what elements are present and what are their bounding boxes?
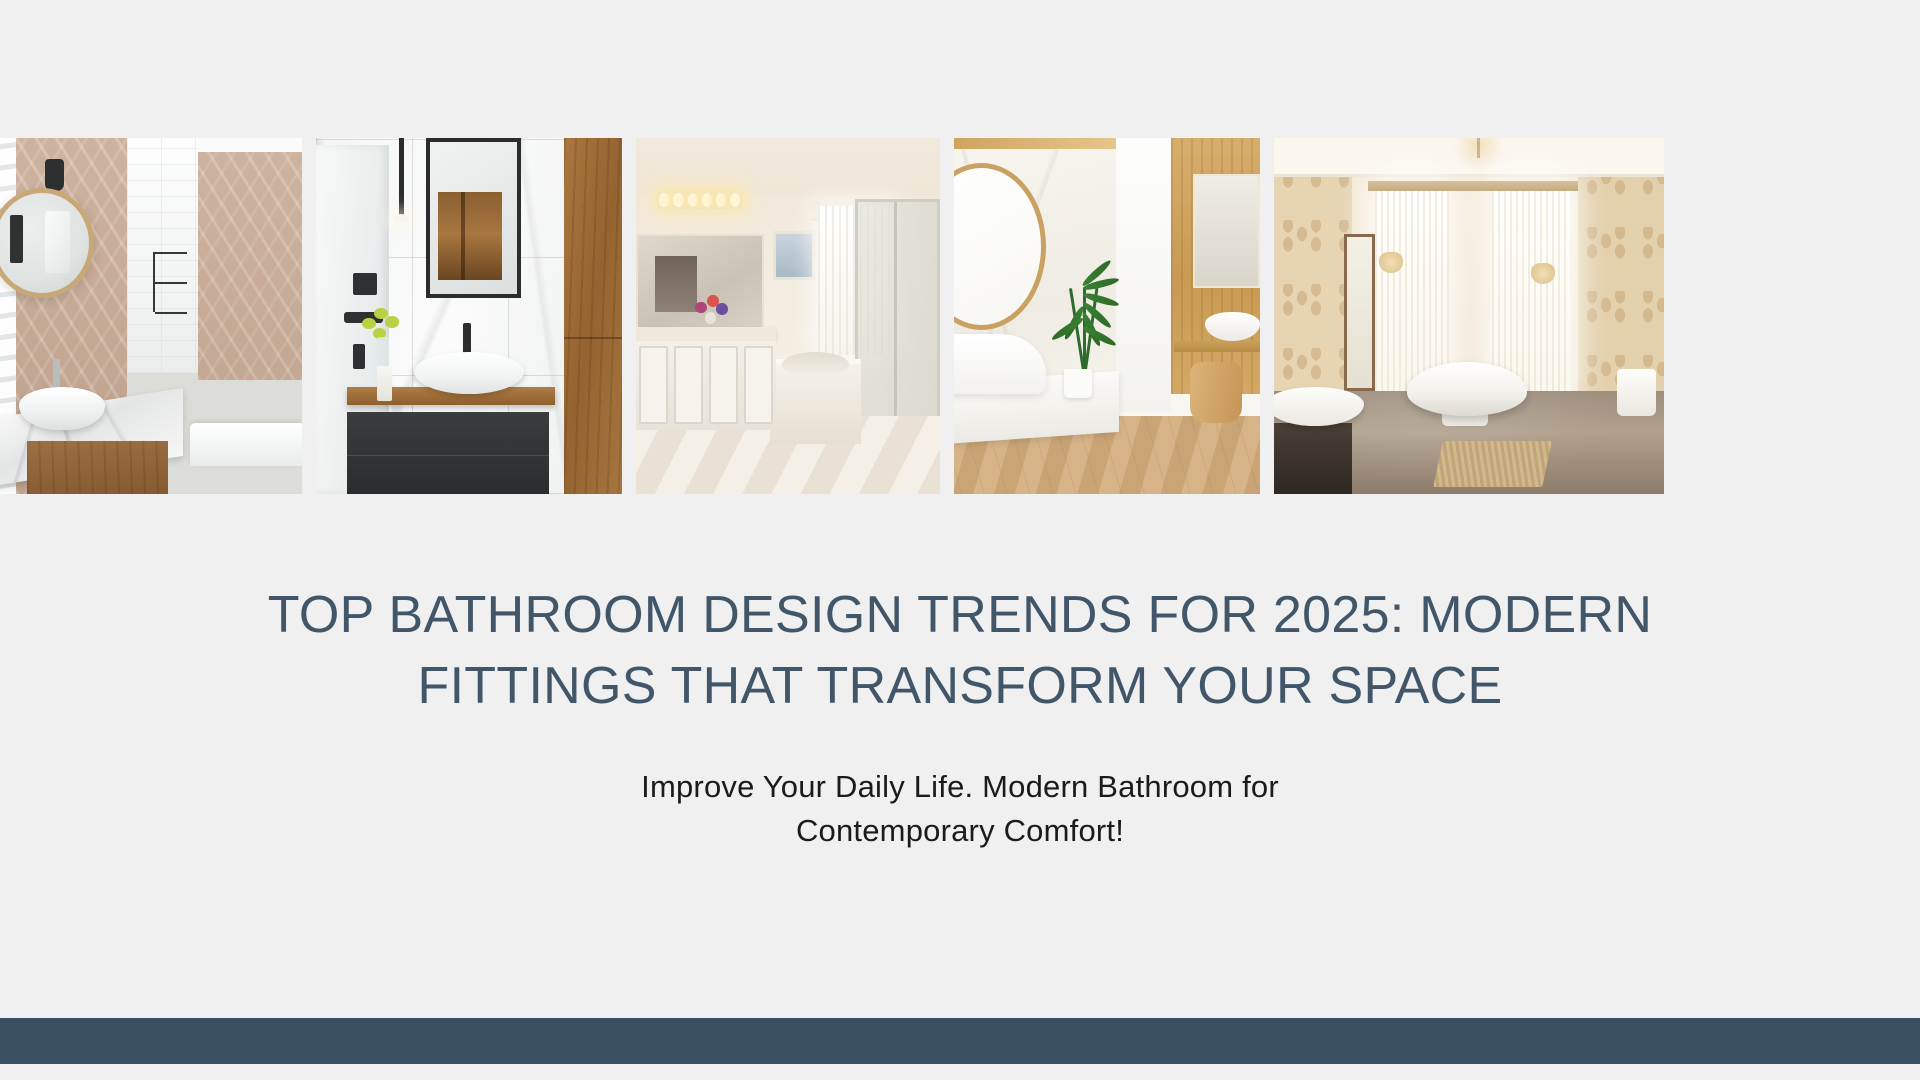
mirror-reflection	[438, 192, 502, 280]
toilet	[1617, 369, 1656, 415]
photo-2-scene	[316, 138, 622, 494]
door-lock-icon	[353, 344, 365, 369]
dark-vanity-cabinet	[1274, 423, 1352, 494]
gallery-image-2[interactable]	[316, 138, 622, 494]
curtain-rod	[1368, 181, 1579, 192]
wood-stool	[1190, 362, 1242, 423]
vanity-light-bar	[657, 191, 742, 209]
vessel-basin	[19, 387, 105, 430]
bathroom-photo-strip	[0, 138, 1920, 494]
glass-shower-enclosure	[855, 199, 940, 441]
shelf-rack-icon	[153, 252, 186, 313]
page-title: TOP BATHROOM DESIGN TRENDS FOR 2025: MOD…	[250, 580, 1670, 721]
chandelier-icon	[1453, 138, 1504, 174]
gallery-image-4[interactable]	[954, 138, 1260, 494]
vanity-cabinets	[636, 341, 776, 430]
door-plate-icon	[353, 273, 377, 294]
sheer-curtain-window-2	[1492, 184, 1570, 390]
soap-bottle	[377, 366, 392, 402]
palm-plant	[1034, 227, 1132, 377]
photo-1-scene	[0, 138, 302, 494]
headline-line-1: TOP BATHROOM DESIGN TRENDS FOR 2025: MOD…	[268, 586, 1652, 644]
gallery-image-1[interactable]	[0, 138, 302, 494]
vanity-shelf	[1174, 341, 1260, 352]
headline-line-2: FITTINGS THAT TRANSFORM YOUR SPACE	[418, 657, 1503, 715]
accent-bar	[0, 1018, 1920, 1064]
pendant-light-icon	[399, 138, 404, 216]
wood-cabinet-column	[564, 138, 622, 494]
page-subtitle: Improve Your Daily Life. Modern Bathroom…	[0, 765, 1920, 853]
subtitle-line-2: Contemporary Comfort!	[796, 813, 1124, 848]
slide-text-block: TOP BATHROOM DESIGN TRENDS FOR 2025: MOD…	[0, 580, 1920, 853]
gold-trim	[954, 138, 1116, 149]
gallery-image-5[interactable]	[1274, 138, 1664, 494]
tub-alcove-wall	[198, 152, 302, 380]
photo-5-scene	[1274, 138, 1664, 494]
plant-pot	[1064, 369, 1092, 397]
vaulted-ceiling	[636, 138, 940, 195]
freestanding-oval-bathtub	[1407, 362, 1528, 415]
bathtub	[190, 423, 302, 466]
black-vanity-cabinet	[347, 412, 549, 494]
wood-vanity-cabinet	[27, 441, 168, 494]
wall-sconce-icon	[1531, 263, 1554, 284]
flower-vase	[694, 295, 730, 334]
doorway	[1344, 234, 1375, 391]
photo-3-scene	[636, 138, 940, 494]
wall-sconce-icon	[45, 159, 64, 191]
subtitle-line-1: Improve Your Daily Life. Modern Bathroom…	[641, 769, 1279, 804]
shag-rug	[1433, 441, 1552, 487]
wall-sconce-icon	[1379, 252, 1402, 273]
wall-mirror	[1193, 174, 1260, 288]
sheer-curtain-window-1	[1375, 184, 1449, 390]
gallery-image-3[interactable]	[636, 138, 940, 494]
photo-4-scene	[954, 138, 1260, 494]
tub-basin	[782, 352, 849, 377]
framed-artwork	[773, 231, 816, 281]
rectangular-mirror	[426, 138, 521, 298]
